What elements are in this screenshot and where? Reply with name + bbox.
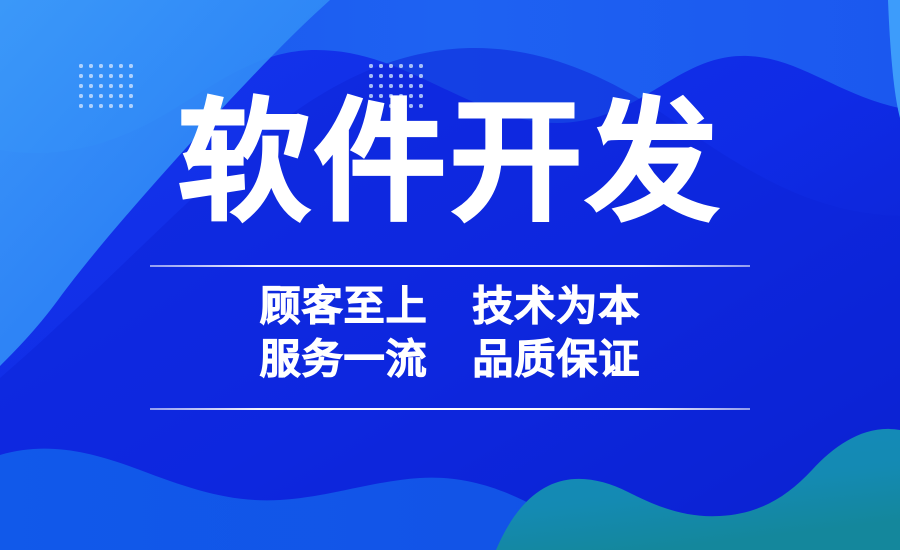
banner-content: 软件开发 顾客至上 技术为本 服务一流 品质保证: [0, 0, 900, 550]
promo-banner: 软件开发 顾客至上 技术为本 服务一流 品质保证: [0, 0, 900, 550]
subtitle-line-2-phrase-1: 服务一流: [260, 336, 428, 382]
subtitle-line-2: 服务一流 品质保证: [260, 333, 641, 386]
subtitle-line-2-phrase-2: 品质保证: [472, 336, 640, 382]
divider-rule-bottom: [150, 408, 750, 410]
divider-rule-top: [150, 265, 750, 267]
banner-subtitle: 顾客至上 技术为本 服务一流 品质保证: [260, 280, 641, 387]
banner-headline: 软件开发: [178, 97, 722, 229]
subtitle-line-1-phrase-2: 技术为本: [472, 283, 640, 329]
subtitle-line-1: 顾客至上 技术为本: [260, 280, 641, 333]
subtitle-line-1-phrase-1: 顾客至上: [260, 283, 428, 329]
